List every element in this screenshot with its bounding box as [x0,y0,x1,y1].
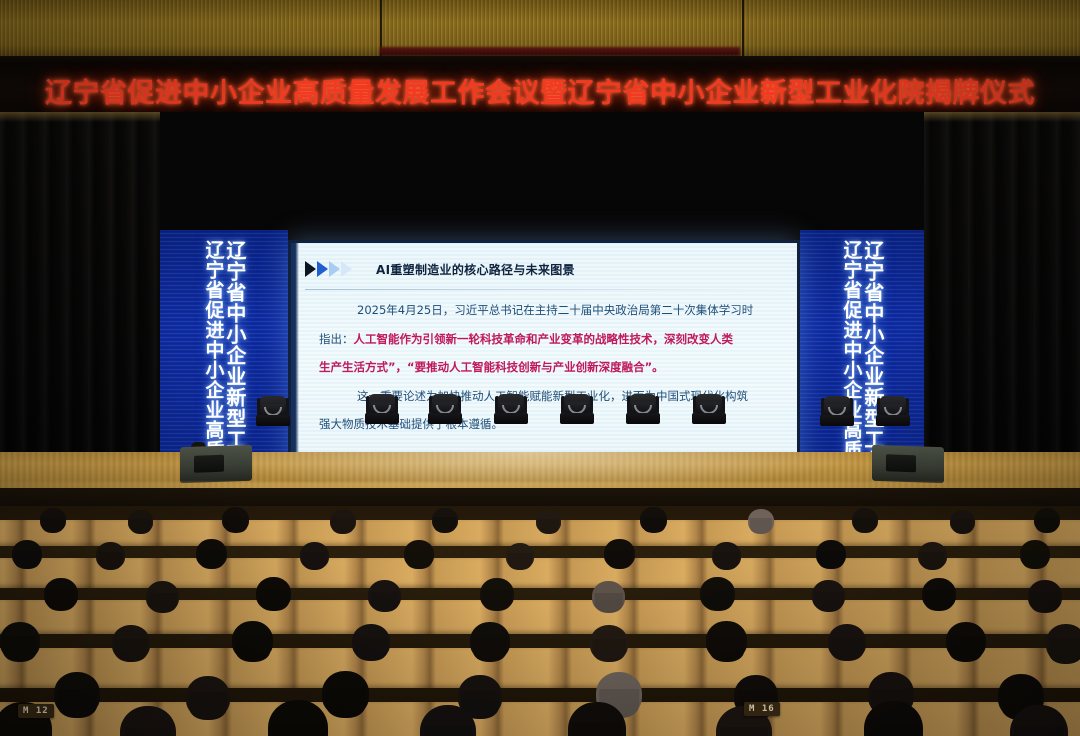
stage-light-1 [365,394,399,424]
audience-head [330,509,356,533]
stage-curtain-left [0,112,160,480]
audience-head [1034,508,1060,532]
double-chevron-icon [305,261,352,277]
stage-light-3 [494,394,528,424]
audience-head [922,578,956,610]
seat-tag: M 12 [18,704,54,718]
audience-head [96,542,125,569]
audience-head [852,508,878,532]
audience-head [828,624,866,660]
audience-seating: M 12 M 16 [0,506,1080,736]
audience-head [128,510,153,533]
audience-head [1020,540,1050,568]
stage-light-side-right [820,396,854,426]
audience-head [146,581,179,612]
stage-light-side-right-2 [876,396,910,426]
ceiling-red-trim [380,47,740,56]
slide-lead-label: 指出： [319,332,354,346]
slide-body: 2025年4月25日，习近平总书记在主持二十届中央政治局第二十次集体学习时 指出… [319,305,779,448]
audience-head [1046,624,1080,662]
audience-head [706,621,747,660]
audience-head [700,577,735,610]
audience-head [918,542,947,569]
slide-title: AI重塑制造业的核心路径与未来图景 [376,261,575,278]
stage-area: 辽宁省中小企业新型工业化院揭牌仪式 辽宁省促进中小企业高质量发展工作会暨 辽宁省… [0,112,1080,480]
slide-lead-emphasis: 人工智能作为引领新一轮科技革命和产业变革的战略性技术，深刻改变人类 [354,332,734,346]
stage-light-side-left [256,396,290,426]
audience-head [12,540,42,568]
audience-head [480,578,514,610]
slide-line-3: 生产生活方式”，“要推动人工智能科技创新与产业创新深度融合”。 [319,362,779,374]
audience-head [222,507,249,532]
audience-head [432,508,458,532]
audience-head [232,621,273,660]
auditorium-scene: 辽宁省促进中小企业高质量发展工作会议暨辽宁省中小企业新型工业化院揭牌仪式 辽宁省… [0,0,1080,736]
audience-head [536,510,561,533]
audience-head [748,509,774,533]
audience-head [812,580,845,611]
audience-head [54,672,100,716]
audience-head [950,510,975,533]
event-title-text: 辽宁省促进中小企业高质量发展工作会议暨辽宁省中小企业新型工业化院揭牌仪式 [45,71,1035,110]
audience-head [712,542,741,569]
audience-head [112,625,150,661]
stage-curtain-right [924,112,1080,480]
audience-head [40,508,66,532]
audience-head [256,577,291,610]
slide-line-2: 指出：人工智能作为引领新一轮科技革命和产业变革的战略性技术，深刻改变人类 [319,334,779,346]
audience-head [816,540,846,568]
audience-head [604,539,635,568]
audience-head [1028,580,1062,612]
slide-line-1: 2025年4月25日，习近平总书记在主持二十届中央政治局第二十次集体学习时 [319,305,779,317]
audience-head [640,507,667,532]
slide-header-divider [305,289,789,290]
audience-head [404,540,434,568]
audience-head [592,581,625,612]
audience-head [946,622,986,660]
stage-monitor-right [872,445,944,484]
audience-head [506,543,534,569]
audience-head [0,622,40,660]
audience-head [470,622,510,660]
audience-head [300,542,329,569]
audience-head [196,539,227,568]
audience-head [186,676,230,718]
audience-head [368,580,401,611]
stage-light-2 [428,394,462,424]
seat-tag: M 16 [744,702,780,716]
seat-row-4 [0,648,1080,688]
event-led-banner: 辽宁省促进中小企业高质量发展工作会议暨辽宁省中小企业新型工业化院揭牌仪式 [0,62,1080,118]
stage-light-4 [560,394,594,424]
stage-light-5 [626,394,660,424]
audience-head [322,671,369,716]
audience-head [352,624,390,660]
stage-light-6 [692,394,726,424]
audience-head [44,578,78,610]
audience-head [590,625,628,661]
stage-monitor-left [180,445,252,484]
slide-header: AI重塑制造业的核心路径与未来图景 [291,251,797,287]
